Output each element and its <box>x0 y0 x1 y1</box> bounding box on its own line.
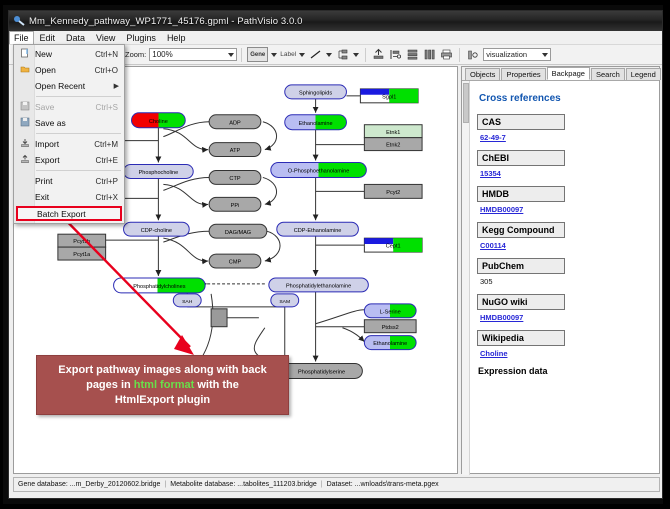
file-menu-item-label: Open <box>35 65 95 75</box>
file-menu-item-open[interactable]: OpenCtrl+O <box>14 62 124 78</box>
node-label: SAM <box>279 299 290 305</box>
xref-block-cas: CAS62-49-7 <box>477 114 650 142</box>
node-label: Pcyt2 <box>386 190 400 196</box>
xref-block-nugo-wiki: NuGO wikiHMDB00097 <box>477 294 650 322</box>
file-menu-item-label: Exit <box>35 192 96 202</box>
save-icon <box>14 101 35 113</box>
node-label: Sgpl1 <box>382 94 396 100</box>
visualization-combo[interactable]: visualization <box>483 48 551 61</box>
export-icon <box>14 154 35 166</box>
align-top-icon[interactable] <box>371 47 386 62</box>
toolbar-divider-3 <box>459 48 460 62</box>
file-menu-item-accelerator: Ctrl+S <box>96 103 124 112</box>
file-menu-dropdown[interactable]: NewCtrl+NOpenCtrl+OOpen Recent▶SaveCtrl+… <box>13 44 125 224</box>
tab-backpage[interactable]: Backpage <box>547 67 590 80</box>
file-menu-item-label: New <box>35 49 95 59</box>
node-label: Phosphatidylethanolamine <box>286 284 351 290</box>
metabolite-node-cdp-choline[interactable]: CDP-choline <box>124 222 190 236</box>
metabolite-node-ethanolamine[interactable]: Ethanolamine <box>285 115 347 130</box>
xref-block-hmdb: HMDBHMDB00097 <box>477 186 650 214</box>
tab-objects[interactable]: Objects <box>465 68 500 80</box>
metabolite-node-ethanolamine[interactable]: Ethanolamine <box>364 336 416 350</box>
node-label: CDP-Ethanolamine <box>294 228 342 234</box>
node-label: DAG/MAG <box>225 230 251 236</box>
file-menu-item-accelerator: Ctrl+M <box>94 140 124 149</box>
chevron-down-icon <box>228 53 234 57</box>
metabolite-node-sphingolipids[interactable]: Sphingolipids <box>285 85 347 99</box>
node-label: Choline <box>149 119 168 125</box>
side-panel-tabs: Objects Properties Backpage Search Legen… <box>462 67 659 81</box>
toolbar-divider-2 <box>365 48 366 62</box>
gene-node-cept1[interactable]: Cept1 <box>364 238 422 252</box>
file-menu-item-exit[interactable]: ExitCtrl+X <box>14 189 124 205</box>
file-menu-item-label: Save as <box>35 118 118 128</box>
callout-line2-pre: pages in <box>86 379 134 391</box>
node-label: ATP <box>230 148 241 154</box>
xref-name: HMDB <box>477 186 565 202</box>
callout-line2-highlight: html format <box>134 379 195 391</box>
xref-name: Wikipedia <box>477 330 565 346</box>
status-dataset-value: ...wnloads\trans-meta.pgex <box>355 481 439 488</box>
file-menu-item-batch-export[interactable]: Batch Export <box>16 206 122 221</box>
file-menu-item-print[interactable]: PrintCtrl+P <box>14 173 124 189</box>
metabolite-node-phosphocholine[interactable]: Phosphocholine <box>124 165 194 179</box>
node-label: Etnk1 <box>386 130 400 136</box>
file-menu-item-accelerator: Ctrl+O <box>95 66 124 75</box>
zoom-value: 100% <box>152 50 172 59</box>
menu-data[interactable]: Data <box>61 31 90 45</box>
metabolite-node-choline[interactable]: Choline <box>132 113 186 128</box>
xref-name: PubChem <box>477 258 565 274</box>
node-label: ADP <box>229 120 241 126</box>
callout-line3: HtmlExport plugin <box>115 394 210 406</box>
folder-open-icon <box>14 64 35 76</box>
file-menu-item-accelerator: Ctrl+P <box>96 177 124 186</box>
xref-link[interactable]: C00114 <box>480 241 650 250</box>
gene-node-pcyt2[interactable]: Pcyt2 <box>364 184 422 198</box>
line-chevron-down-icon[interactable] <box>326 53 332 57</box>
xref-block-pubchem: PubChem305 <box>477 258 650 286</box>
gene-chevron-down-icon[interactable] <box>271 53 277 57</box>
status-divider-1: | <box>164 481 166 488</box>
print-icon[interactable] <box>439 47 454 62</box>
status-bar: Gene database: ...m_Derby_20120602.bridg… <box>13 477 660 492</box>
xref-link[interactable]: Choline <box>480 349 650 358</box>
menu-plugins[interactable]: Plugins <box>121 31 161 45</box>
node-label: Pcyt1a <box>73 252 91 258</box>
file-menu-item-save: SaveCtrl+S <box>14 99 124 115</box>
distribute-icon[interactable] <box>422 47 437 62</box>
scrollbar-thumb[interactable] <box>463 83 469 123</box>
xref-value: 305 <box>480 277 650 286</box>
file-menu-item-open-recent[interactable]: Open Recent▶ <box>14 78 124 94</box>
new-file-icon <box>14 48 35 60</box>
metabolite-node-phosphatidylserine[interactable]: Phosphatidylserine <box>281 364 363 379</box>
file-menu-item-new[interactable]: NewCtrl+N <box>14 46 124 62</box>
node-label: Sphingolipids <box>299 90 332 96</box>
file-menu-item-label: Open Recent <box>35 81 114 91</box>
status-gene-db-label: Gene database: <box>18 481 68 488</box>
metabolite-node-adp[interactable]: ADP <box>209 115 261 129</box>
callout-line2-post: with the <box>194 379 239 391</box>
file-menu-item-label: Print <box>35 176 96 186</box>
menu-edit[interactable]: Edit <box>35 31 61 45</box>
node-label: CMP <box>229 260 242 266</box>
gene-node-sgpl1[interactable]: Sgpl1 <box>360 89 418 103</box>
annotation-callout-text: Export pathway images along with back pa… <box>52 363 272 408</box>
visualization-settings-icon[interactable] <box>465 47 480 62</box>
menu-bar: File Edit Data View Plugins Help <box>9 31 662 45</box>
node-label: Pcyt1b <box>73 239 90 245</box>
node-label: PPi <box>231 203 240 209</box>
xref-link[interactable]: 15354 <box>480 169 650 178</box>
backpage-content: Cross references CAS62-49-7ChEBI15354HMD… <box>471 81 658 472</box>
metabolite-node-atp[interactable]: ATP <box>209 143 261 157</box>
metabolite-node-o-phosphoethanolamine[interactable]: O-Phosphoethanolamine <box>271 163 367 178</box>
xref-link[interactable]: HMDB00097 <box>480 205 650 214</box>
node-label: L-Serine <box>380 309 401 315</box>
outer-frame: Mm_Kennedy_pathway_WP1771_45176.gpml - P… <box>0 0 670 509</box>
gene-tool-button[interactable]: Gene <box>247 47 268 62</box>
node-label: Ethanolamine <box>299 121 333 127</box>
application-window: Mm_Kennedy_pathway_WP1771_45176.gpml - P… <box>8 10 663 499</box>
node-label: Phosphatidylcholines <box>133 284 185 290</box>
metabolite-node-phosphatidylethanolamine[interactable]: Phosphatidylethanolamine <box>269 278 369 292</box>
file-menu-separator <box>36 170 121 171</box>
node-label: Etnk2 <box>386 143 400 149</box>
file-menu-item-label: Batch Export <box>37 209 114 219</box>
gene-node-pcyt1a[interactable]: Pcyt1a <box>58 247 106 260</box>
node-label: Phosphocholine <box>139 170 179 176</box>
file-menu-item-accelerator: Ctrl+N <box>95 50 124 59</box>
file-menu-item-save-as[interactable]: Save as <box>14 115 124 131</box>
stack-icon[interactable] <box>405 47 420 62</box>
xref-link[interactable]: HMDB00097 <box>480 313 650 322</box>
node-label: Ethanolamine <box>373 341 407 347</box>
xref-name: ChEBI <box>477 150 565 166</box>
file-menu-item-label: Export <box>35 155 96 165</box>
shape-tool-icon[interactable] <box>335 47 350 62</box>
gene-node-pcyt1b[interactable]: Pcyt1b <box>58 234 106 247</box>
node-label: O-Phosphoethanolamine <box>288 169 350 175</box>
label-tool-button[interactable]: Label <box>280 47 296 62</box>
xref-name: NuGO wiki <box>477 294 565 310</box>
visualization-chevron-down-icon <box>542 53 548 57</box>
align-left-icon[interactable] <box>388 47 403 62</box>
gene-node-etnk2[interactable]: Etnk2 <box>364 138 422 151</box>
gene-node-ptdss2[interactable]: Ptdss2 <box>364 320 416 333</box>
menu-file[interactable]: File <box>9 31 34 44</box>
file-menu-item-accelerator: Ctrl+E <box>96 156 124 165</box>
status-gene-db-value: ...m_Derby_20120602.bridge <box>70 481 161 488</box>
metabolite-node-cdp-ethanolamine[interactable]: CDP-Ethanolamine <box>277 222 359 236</box>
callout-line1: Export pathway images along with back <box>58 364 266 376</box>
metabolite-node-phosphatidylcholines[interactable]: Phosphatidylcholines <box>114 278 206 293</box>
xref-name: Kegg Compound <box>477 222 565 238</box>
cross-references-title: Cross references <box>479 93 650 104</box>
status-dataset-label: Dataset: <box>327 481 353 488</box>
node-label: CDP-choline <box>141 228 172 234</box>
file-menu-item-accelerator: Ctrl+X <box>96 193 124 202</box>
submenu-arrow-icon: ▶ <box>114 82 124 90</box>
metabolite-node-dag-mag[interactable]: DAG/MAG <box>209 224 267 238</box>
node-label: Phosphatidylserine <box>298 370 345 376</box>
backpage-scrollbar[interactable] <box>462 81 470 475</box>
visualization-value: visualization <box>486 50 527 59</box>
import-icon <box>14 138 35 150</box>
xref-name: CAS <box>477 114 565 130</box>
pathvisio-icon <box>13 15 25 27</box>
status-divider-2: | <box>321 481 323 488</box>
title-bar: Mm_Kennedy_pathway_WP1771_45176.gpml - P… <box>9 11 662 31</box>
metabolite-node-ctp[interactable]: CTP <box>209 170 261 184</box>
file-menu-item-import[interactable]: ImportCtrl+M <box>14 136 124 152</box>
file-menu-item-label: Import <box>35 139 94 149</box>
menu-view[interactable]: View <box>91 31 120 45</box>
metabolite-node-ppi[interactable]: PPi <box>209 197 261 211</box>
side-panel: Objects Properties Backpage Search Legen… <box>461 66 660 474</box>
cross-reference-list: CAS62-49-7ChEBI15354HMDBHMDB00097Kegg Co… <box>477 114 650 358</box>
expression-data-title: Expression data <box>478 366 650 376</box>
xref-block-kegg-compound: Kegg CompoundC00114 <box>477 222 650 250</box>
node-label: CTP <box>229 176 240 182</box>
window-title: Mm_Kennedy_pathway_WP1771_45176.gpml - P… <box>29 16 303 27</box>
status-metabolite-db-value: ...tabolites_111203.bridge <box>237 481 317 488</box>
xref-block-wikipedia: WikipediaCholine <box>477 330 650 358</box>
status-metabolite-db-label: Metabolite database: <box>170 481 235 488</box>
line-tool-icon[interactable] <box>308 47 323 62</box>
zoom-label: Zoom: <box>125 50 146 59</box>
tab-properties[interactable]: Properties <box>501 68 545 80</box>
metabolite-node-sam[interactable]: SAM <box>271 294 299 307</box>
xref-link[interactable]: 62-49-7 <box>480 133 650 142</box>
node-label: SAH <box>182 299 193 305</box>
node-label: Ptdss2 <box>382 325 399 331</box>
file-menu-item-export[interactable]: ExportCtrl+E <box>14 152 124 168</box>
node-label: Cept1 <box>386 244 401 250</box>
tab-legend[interactable]: Legend <box>626 68 661 80</box>
metabolite-node-sah[interactable]: SAH <box>173 294 201 307</box>
file-menu-item-label: Save <box>35 102 96 112</box>
menu-help[interactable]: Help <box>162 31 191 45</box>
tab-search[interactable]: Search <box>591 68 625 80</box>
file-menu-separator <box>36 133 121 134</box>
annotation-callout: Export pathway images along with back pa… <box>36 355 289 415</box>
shape-chevron-down-icon[interactable] <box>353 53 359 57</box>
save-as-icon <box>14 117 35 129</box>
metabolite-node-cmp[interactable]: CMP <box>209 254 261 268</box>
zoom-combo[interactable]: 100% <box>149 48 237 61</box>
toolbar-divider <box>241 48 242 62</box>
file-menu-separator <box>36 96 121 97</box>
xref-block-chebi: ChEBI15354 <box>477 150 650 178</box>
gene-node-etnk1[interactable]: Etnk1 <box>364 125 422 138</box>
metabolite-node-l-serine[interactable]: L-Serine <box>364 304 416 318</box>
label-chevron-down-icon[interactable] <box>299 53 305 57</box>
